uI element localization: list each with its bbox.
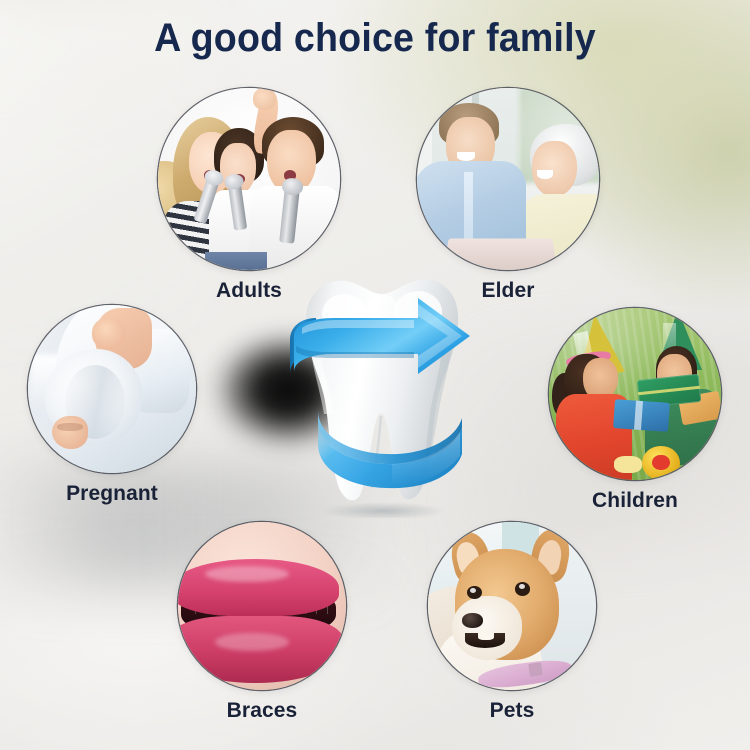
children-photo-circle [549, 308, 721, 480]
elderly-couple-photo [417, 88, 599, 270]
pregnant-label: Pregnant [28, 482, 196, 506]
feature-item-pregnant[interactable]: Pregnant [28, 305, 196, 506]
feature-item-elder[interactable]: Elder [417, 88, 599, 303]
feature-item-adults[interactable]: Adults [158, 88, 340, 303]
family-singing-photo [158, 88, 340, 270]
adults-photo-circle [158, 88, 340, 270]
pregnant-photo-circle [28, 305, 196, 473]
page-title: A good choice for family [23, 16, 728, 61]
feature-item-braces[interactable]: Braces [178, 522, 346, 723]
pets-label: Pets [428, 699, 596, 723]
elder-photo-circle [417, 88, 599, 270]
tooth-with-rotating-arrows-graphic [272, 268, 492, 518]
feature-item-pets[interactable]: Pets [428, 522, 596, 723]
braces-teeth-photo [178, 522, 346, 690]
braces-photo-circle [178, 522, 346, 690]
elder-label: Elder [417, 279, 599, 303]
children-party-photo [549, 308, 721, 480]
pets-photo-circle [428, 522, 596, 690]
shiba-dog-photo [428, 522, 596, 690]
braces-label: Braces [178, 699, 346, 723]
pregnant-woman-photo [28, 305, 196, 473]
feature-item-children[interactable]: Children [549, 308, 721, 513]
adults-label: Adults [158, 279, 340, 303]
children-label: Children [549, 489, 721, 513]
